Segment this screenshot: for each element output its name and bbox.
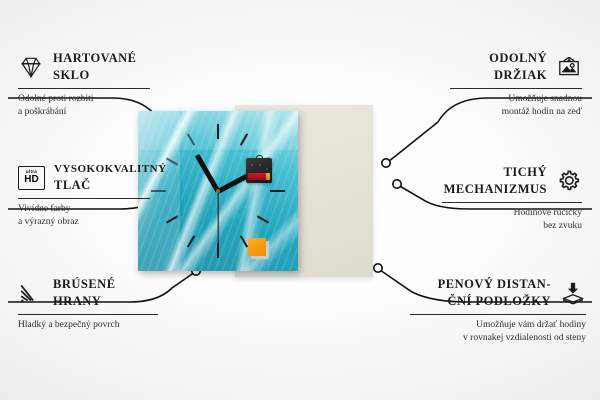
- feature-description: Odolné proti rozbiti a poškrábání: [18, 93, 150, 119]
- mechanism-markings: [249, 163, 269, 171]
- feature-title-line2: TLAČ: [54, 177, 167, 194]
- feature-description: Umožňuje vám držať hodiny v rovnakej vzd…: [410, 319, 586, 345]
- feature-title: BRÚSENÉ HRANY: [53, 276, 116, 309]
- feature-silent-mechanism: TICHÝ MECHANIZMUS Hodinové ručičky bez z…: [442, 164, 582, 233]
- clock-tick-12: [217, 124, 219, 139]
- divider: [442, 202, 582, 203]
- product-photo: [138, 105, 373, 277]
- feature-desc-line2: a výrazný obraz: [18, 216, 150, 229]
- feature-foam-spacers: PENOVÝ DISTAN- ČNÍ PODLOŽKY Umožňuje vám…: [410, 276, 586, 345]
- feature-desc-line1: Hladký a bezpečný povrch: [18, 319, 158, 332]
- divider: [18, 314, 158, 315]
- feature-desc-line1: Vivídne farby: [18, 203, 150, 216]
- gear-icon: [556, 168, 582, 194]
- feature-title-line2: DRŽIAK: [489, 67, 547, 84]
- feature-title-line1: BRÚSENÉ: [53, 276, 116, 293]
- feature-title: TICHÝ MECHANIZMUS: [444, 164, 547, 197]
- connector-dot-right-2: [393, 180, 401, 188]
- feature-desc-line2: v rovnakej vzdialenosti od steny: [410, 332, 586, 345]
- feature-title: PENOVÝ DISTAN- ČNÍ PODLOŽKY: [438, 276, 551, 309]
- picture-hanger-icon: [556, 54, 582, 80]
- feature-title-line1: VYSOKOKVALITNÝ: [54, 162, 167, 177]
- feature-description: Hodinové ručičky bez zvuku: [442, 207, 582, 233]
- feature-title-line2: SKLO: [53, 67, 136, 84]
- clock-second-hand: [217, 191, 218, 251]
- foam-spacer-icon: [560, 280, 586, 306]
- feature-title-line2: ČNÍ PODLOŽKY: [438, 293, 551, 310]
- feature-desc-line1: Umožňuje vám držať hodiny: [410, 319, 586, 332]
- feature-desc-line1: Umožňuje snadnou: [450, 93, 582, 106]
- infographic-canvas: HARTOVANÉ SKLO Odolné proti rozbiti a po…: [0, 0, 600, 400]
- feature-desc-line2: bez zvuku: [442, 220, 582, 233]
- mechanism-housing: [246, 158, 272, 183]
- ultra-hd-icon-main-label: HD: [24, 175, 38, 185]
- clock-center-pin: [216, 189, 220, 193]
- divider: [410, 314, 586, 315]
- feature-desc-line2: a poškrábání: [18, 106, 150, 119]
- feature-beveled-edges: BRÚSENÉ HRANY Hladký a bezpečný povrch: [18, 276, 158, 332]
- feature-hardened-glass: HARTOVANÉ SKLO Odolné proti rozbiti a po…: [18, 50, 150, 119]
- feature-description: Hladký a bezpečný povrch: [18, 319, 158, 332]
- clock-mechanism: [246, 155, 272, 183]
- feature-title: VYSOKOKVALITNÝ TLAČ: [54, 162, 167, 193]
- feature-desc-line1: Odolné proti rozbiti: [18, 93, 150, 106]
- connector-dot-right-1: [382, 159, 390, 167]
- divider: [18, 198, 150, 199]
- clock-tick-3: [270, 190, 285, 192]
- diamond-icon: [18, 54, 44, 80]
- foam-spacer-pad: [248, 238, 266, 256]
- connector-dot-right-3: [374, 264, 382, 272]
- divider: [450, 88, 582, 89]
- mechanism-battery: [248, 173, 270, 180]
- feature-description: Umožňuje snadnou montáž hodin na zeď: [450, 93, 582, 119]
- ultra-hd-icon: ultra HD: [18, 166, 45, 190]
- feature-desc-line2: montáž hodin na zeď: [450, 106, 582, 119]
- feature-title-line1: PENOVÝ DISTAN-: [438, 276, 551, 293]
- beveled-edges-icon: [18, 280, 44, 306]
- feature-title: ODOLNÝ DRŽIAK: [489, 50, 547, 83]
- feature-title-line2: HRANY: [53, 293, 116, 310]
- feature-high-quality-print: ultra HD VYSOKOKVALITNÝ TLAČ Vivídne far…: [18, 162, 150, 229]
- feature-title-line1: HARTOVANÉ: [53, 50, 136, 67]
- feature-title-line1: TICHÝ: [444, 164, 547, 181]
- feature-description: Vivídne farby a výrazný obraz: [18, 203, 150, 229]
- feature-title: HARTOVANÉ SKLO: [53, 50, 136, 83]
- feature-desc-line1: Hodinové ručičky: [442, 207, 582, 220]
- feature-title-line2: MECHANIZMUS: [444, 181, 547, 198]
- feature-title-line1: ODOLNÝ: [489, 50, 547, 67]
- feature-durable-hanger: ODOLNÝ DRŽIAK Umožňuje snadnou montáž ho…: [450, 50, 582, 119]
- divider: [18, 88, 150, 89]
